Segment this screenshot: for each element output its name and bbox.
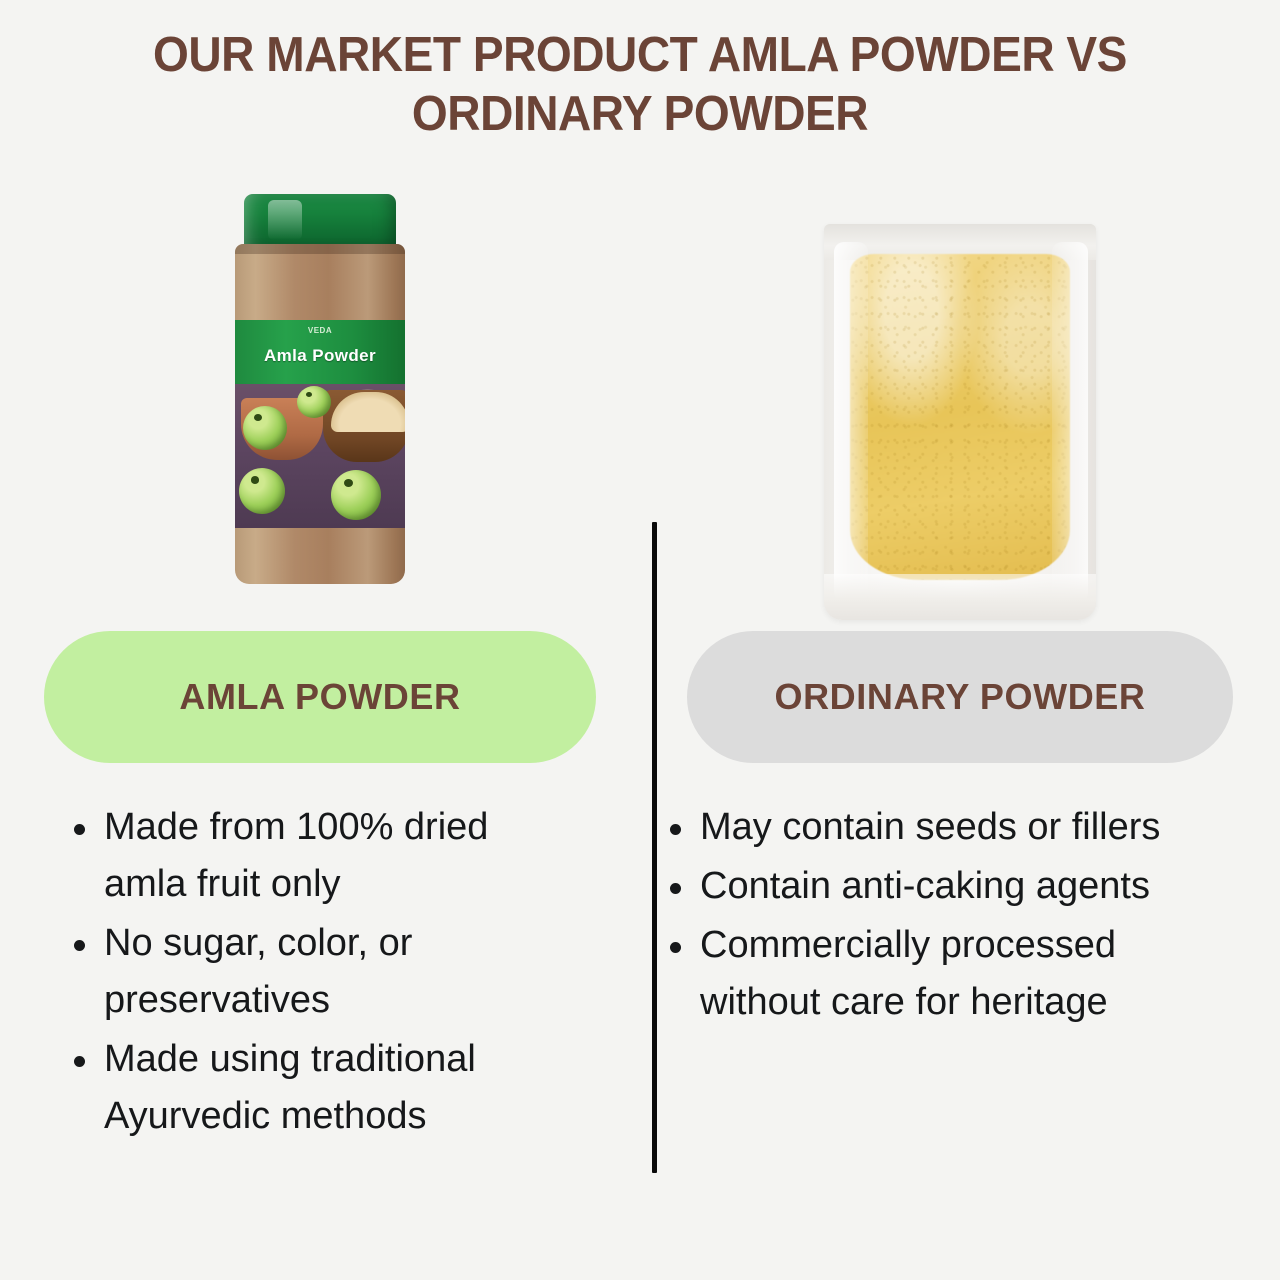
jar-cap-gloss <box>268 200 302 240</box>
comparison-columns: VEDA Amla Powder <box>0 170 1280 1230</box>
feature-list-amla-powder: Made from 100% dried amla fruit only No … <box>58 799 578 1145</box>
page-title: OUR MARKET PRODUCT AMLA POWDER VS ORDINA… <box>0 26 1280 144</box>
amla-fruit-icon <box>243 406 287 450</box>
pouch-bottom-gusset <box>824 574 1096 620</box>
powder-heap-icon <box>331 392 405 432</box>
product-image-amla-jar: VEDA Amla Powder <box>0 170 640 625</box>
jar-label-title: Amla Powder <box>235 346 405 366</box>
feature-list-ordinary-powder: May contain seeds or fillers Contain ant… <box>654 799 1214 1031</box>
list-item: Made from 100% dried amla fruit only <box>58 799 578 913</box>
pouch-powder-grain <box>850 254 1070 580</box>
page-title-line-2: ORDINARY POWDER <box>38 85 1241 144</box>
amla-fruit-icon <box>331 470 381 520</box>
wooden-bowl-icon <box>323 390 405 462</box>
jar-label-banner: VEDA Amla Powder <box>235 320 405 384</box>
list-item: May contain seeds or fillers <box>654 799 1214 856</box>
product-image-ordinary-pouch <box>640 170 1280 625</box>
column-ordinary-powder: ORDINARY POWDER May contain seeds or fil… <box>640 170 1280 1230</box>
amla-fruit-icon <box>239 468 285 514</box>
jar-label-photo <box>235 384 405 528</box>
pill-row-left: AMLA POWDER <box>0 631 640 763</box>
amla-powder-jar: VEDA Amla Powder <box>231 194 409 584</box>
jar-body: VEDA Amla Powder <box>235 244 405 584</box>
amla-fruit-icon <box>297 386 331 418</box>
page-title-line-1: OUR MARKET PRODUCT AMLA POWDER VS <box>38 26 1241 85</box>
jar-cap-icon <box>244 194 396 250</box>
pouch-sheen-left <box>834 242 868 602</box>
column-amla-powder: VEDA Amla Powder <box>0 170 640 1230</box>
list-item: Made using traditional Ayurvedic methods <box>58 1031 578 1145</box>
jar-neck-ring <box>235 244 405 254</box>
pill-row-right: ORDINARY POWDER <box>640 631 1280 763</box>
list-item: Contain anti-caking agents <box>654 858 1214 915</box>
brand-logo-icon: VEDA <box>235 326 405 335</box>
jar-label: VEDA Amla Powder <box>235 320 405 528</box>
heading-pill-amla-powder: AMLA POWDER <box>44 631 596 763</box>
heading-pill-ordinary-powder: ORDINARY POWDER <box>687 631 1233 763</box>
list-item: No sugar, color, or preservatives <box>58 915 578 1029</box>
ordinary-powder-pouch <box>824 224 1096 620</box>
list-item: Commercially processed without care for … <box>654 917 1214 1031</box>
comparison-infographic: { "page": { "background_color": "#f4f4f2… <box>0 0 1280 1280</box>
pouch-sheen-right <box>1052 242 1088 602</box>
